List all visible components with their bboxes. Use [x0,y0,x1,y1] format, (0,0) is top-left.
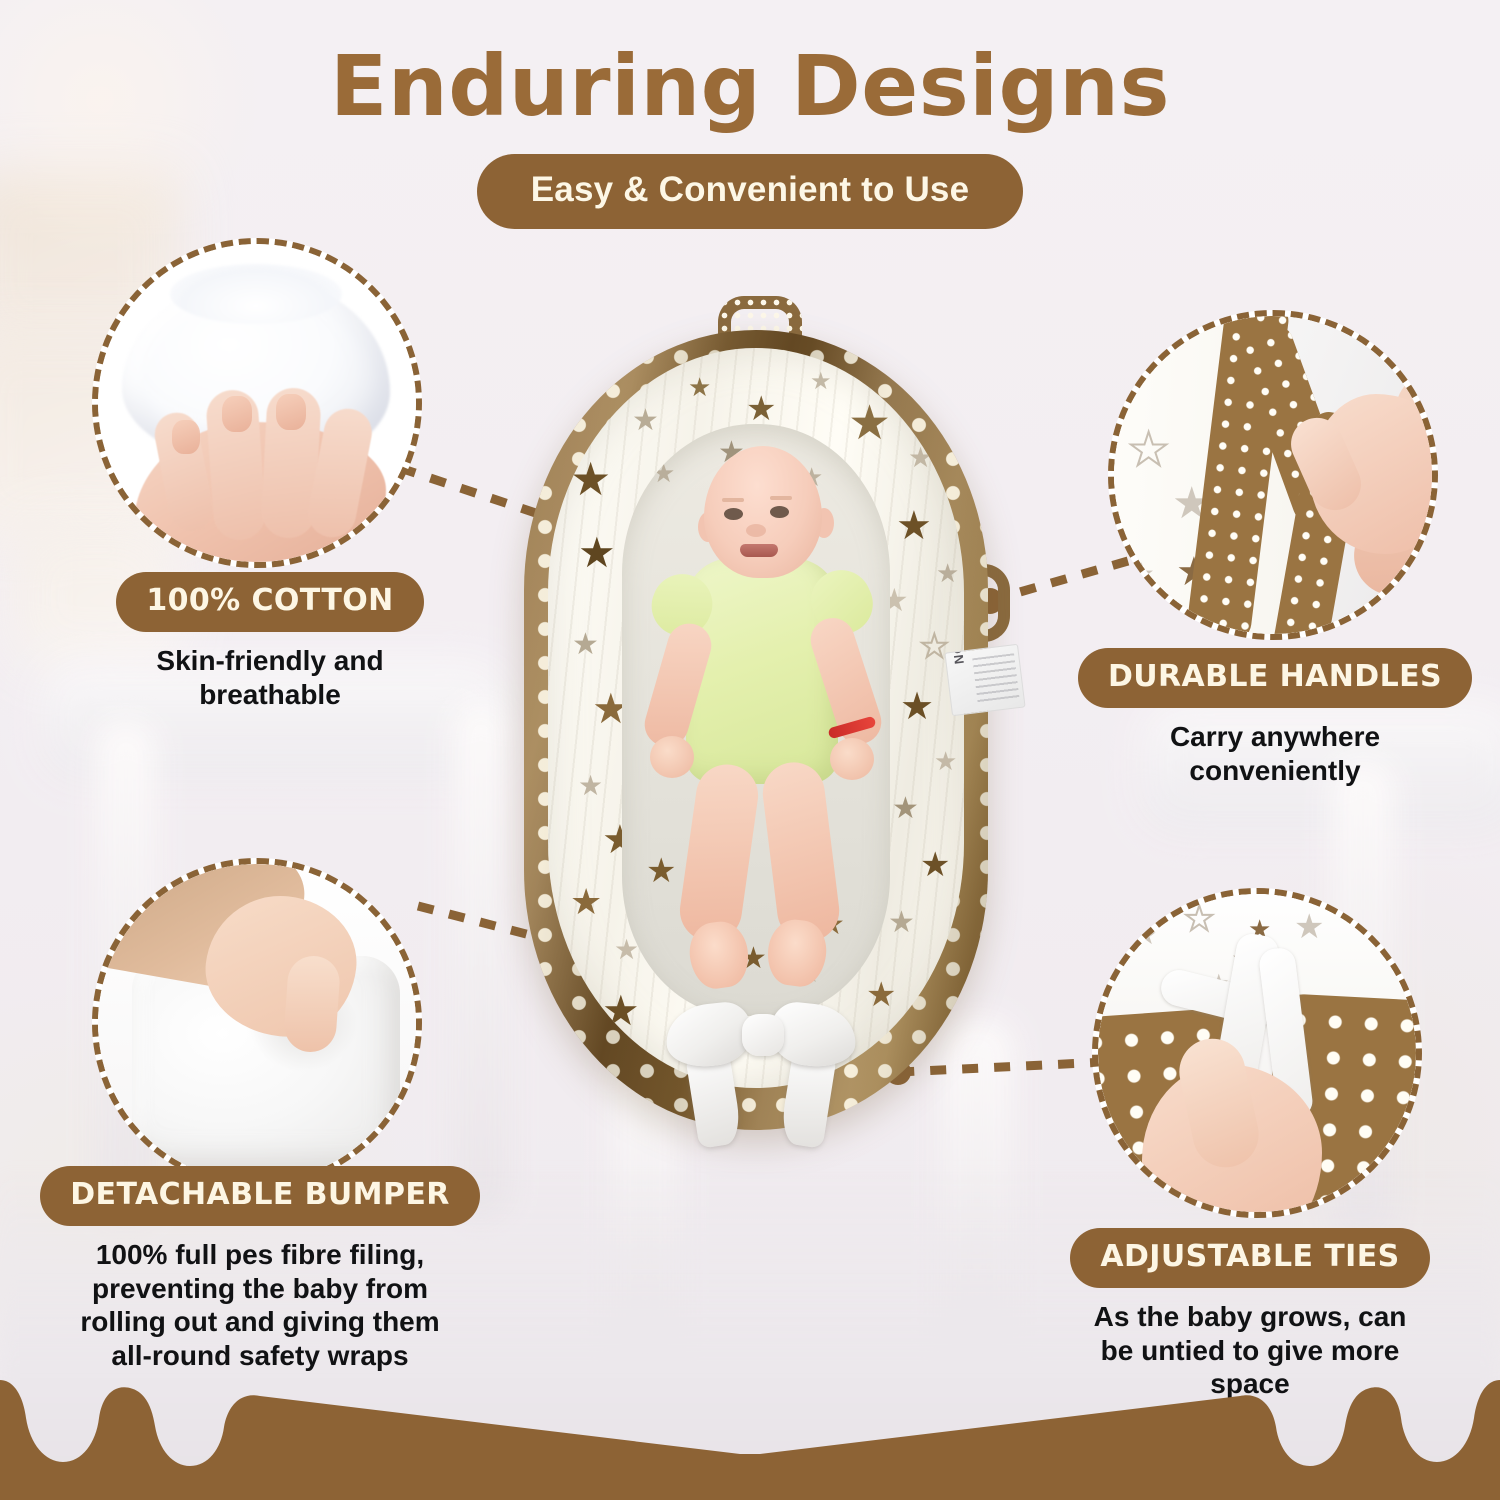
star-icon: ★ [572,630,599,660]
photo-ties-inner: ★ ★ ★ ★ ★ ★ [1098,894,1416,1212]
feature-photo-ties: ★ ★ ★ ★ ★ ★ [1092,888,1422,1218]
subtitle-pill: Easy & Convenient to Use [477,154,1024,229]
star-icon: ★ [688,374,711,400]
star-icon: ★ [578,532,616,574]
baby-leg [759,759,842,945]
star-icon: ★ [578,772,603,800]
fingernail [276,394,306,430]
tag-text-lines [972,653,1020,706]
infographic-page: Enduring Designs Easy & Convenient to Us… [0,0,1500,1500]
star-icon: ★ [570,456,611,502]
baby-in-nest [646,446,874,1006]
star-icon: ★ [896,506,932,546]
bow-knot [742,1014,784,1056]
star-icon: ★ [908,444,933,472]
thumb [283,954,342,1053]
feature-photo-handles: ★ ★ ★ ★ ★ [1108,310,1438,640]
page-title: Enduring Designs [0,44,1500,128]
star-icon: ★ [848,400,891,448]
white-ribbon-bow [666,996,856,1146]
feature-text-ties: ADJUSTABLE TIES As the baby grows, can b… [1010,1228,1490,1401]
star-icon: ★ [892,794,919,824]
feature-description-handles: Carry anywhere conveniently [1050,720,1500,787]
star-icon: ★ [1128,560,1155,590]
product-image-baby-nest: ★ ★ ★ ★ ★ ★ ★ ★ ★ ★ ★ ★ ★ ★ ★ ★ ★ ★ ★ ★ [496,296,1016,1176]
baby-eye [724,508,743,520]
star-icon: ★ [936,560,959,586]
feature-label-bumper: DETACHABLE BUMPER [40,1166,479,1226]
star-icon: ★ [570,884,602,920]
star-icon: ★ [934,748,957,774]
feature-label-cotton: 100% COTTON [116,572,423,632]
star-icon: ★ [746,392,776,426]
feature-text-bumper: DETACHABLE BUMPER 100% full pes fibre fi… [10,1166,510,1372]
star-icon: ★ [1294,910,1324,944]
star-icon: ★ [920,848,950,882]
feature-photo-cotton [92,238,422,568]
baby-eyebrow [770,496,792,500]
photo-handles-inner: ★ ★ ★ ★ ★ [1114,316,1432,634]
star-icon: ★ [632,406,659,436]
feature-label-handles: DURABLE HANDLES [1078,648,1472,708]
star-icon: ★ [888,908,915,938]
star-icon: ★ [1134,922,1157,948]
feature-description-cotton: Skin-friendly and breathable [40,644,500,711]
feature-label-ties: ADJUSTABLE TIES [1070,1228,1429,1288]
photo-bumper-inner [98,864,416,1182]
baby-hand [650,736,694,778]
baby-eye [770,506,789,518]
star-icon: ★ [1128,426,1169,472]
baby-eyebrow [722,498,744,502]
baby-mouth [740,544,778,557]
baby-leg [676,761,762,946]
star-icon: ★ [900,688,934,726]
fingernail [222,396,252,432]
baby-head [704,446,822,578]
feature-text-handles: DURABLE HANDLES Carry anywhere convenien… [1050,648,1500,787]
care-label-tag: NO [944,644,1025,717]
baby-nose [746,524,766,537]
star-icon: ★ [602,990,640,1032]
scallop-shape [0,1380,1500,1500]
feature-description-bumper: 100% full pes fibre filing, preventing t… [10,1238,510,1372]
fingernail [172,420,200,454]
feature-text-cotton: 100% COTTON Skin-friendly and breathable [40,572,500,711]
baby-hand [830,738,874,780]
feature-photo-bumper [92,858,422,1188]
bottom-scalloped-border [0,1380,1500,1500]
star-icon: ★ [1184,902,1214,936]
star-icon: ★ [810,370,832,394]
photo-cotton-inner [98,244,416,562]
header: Enduring Designs Easy & Convenient to Us… [0,44,1500,229]
